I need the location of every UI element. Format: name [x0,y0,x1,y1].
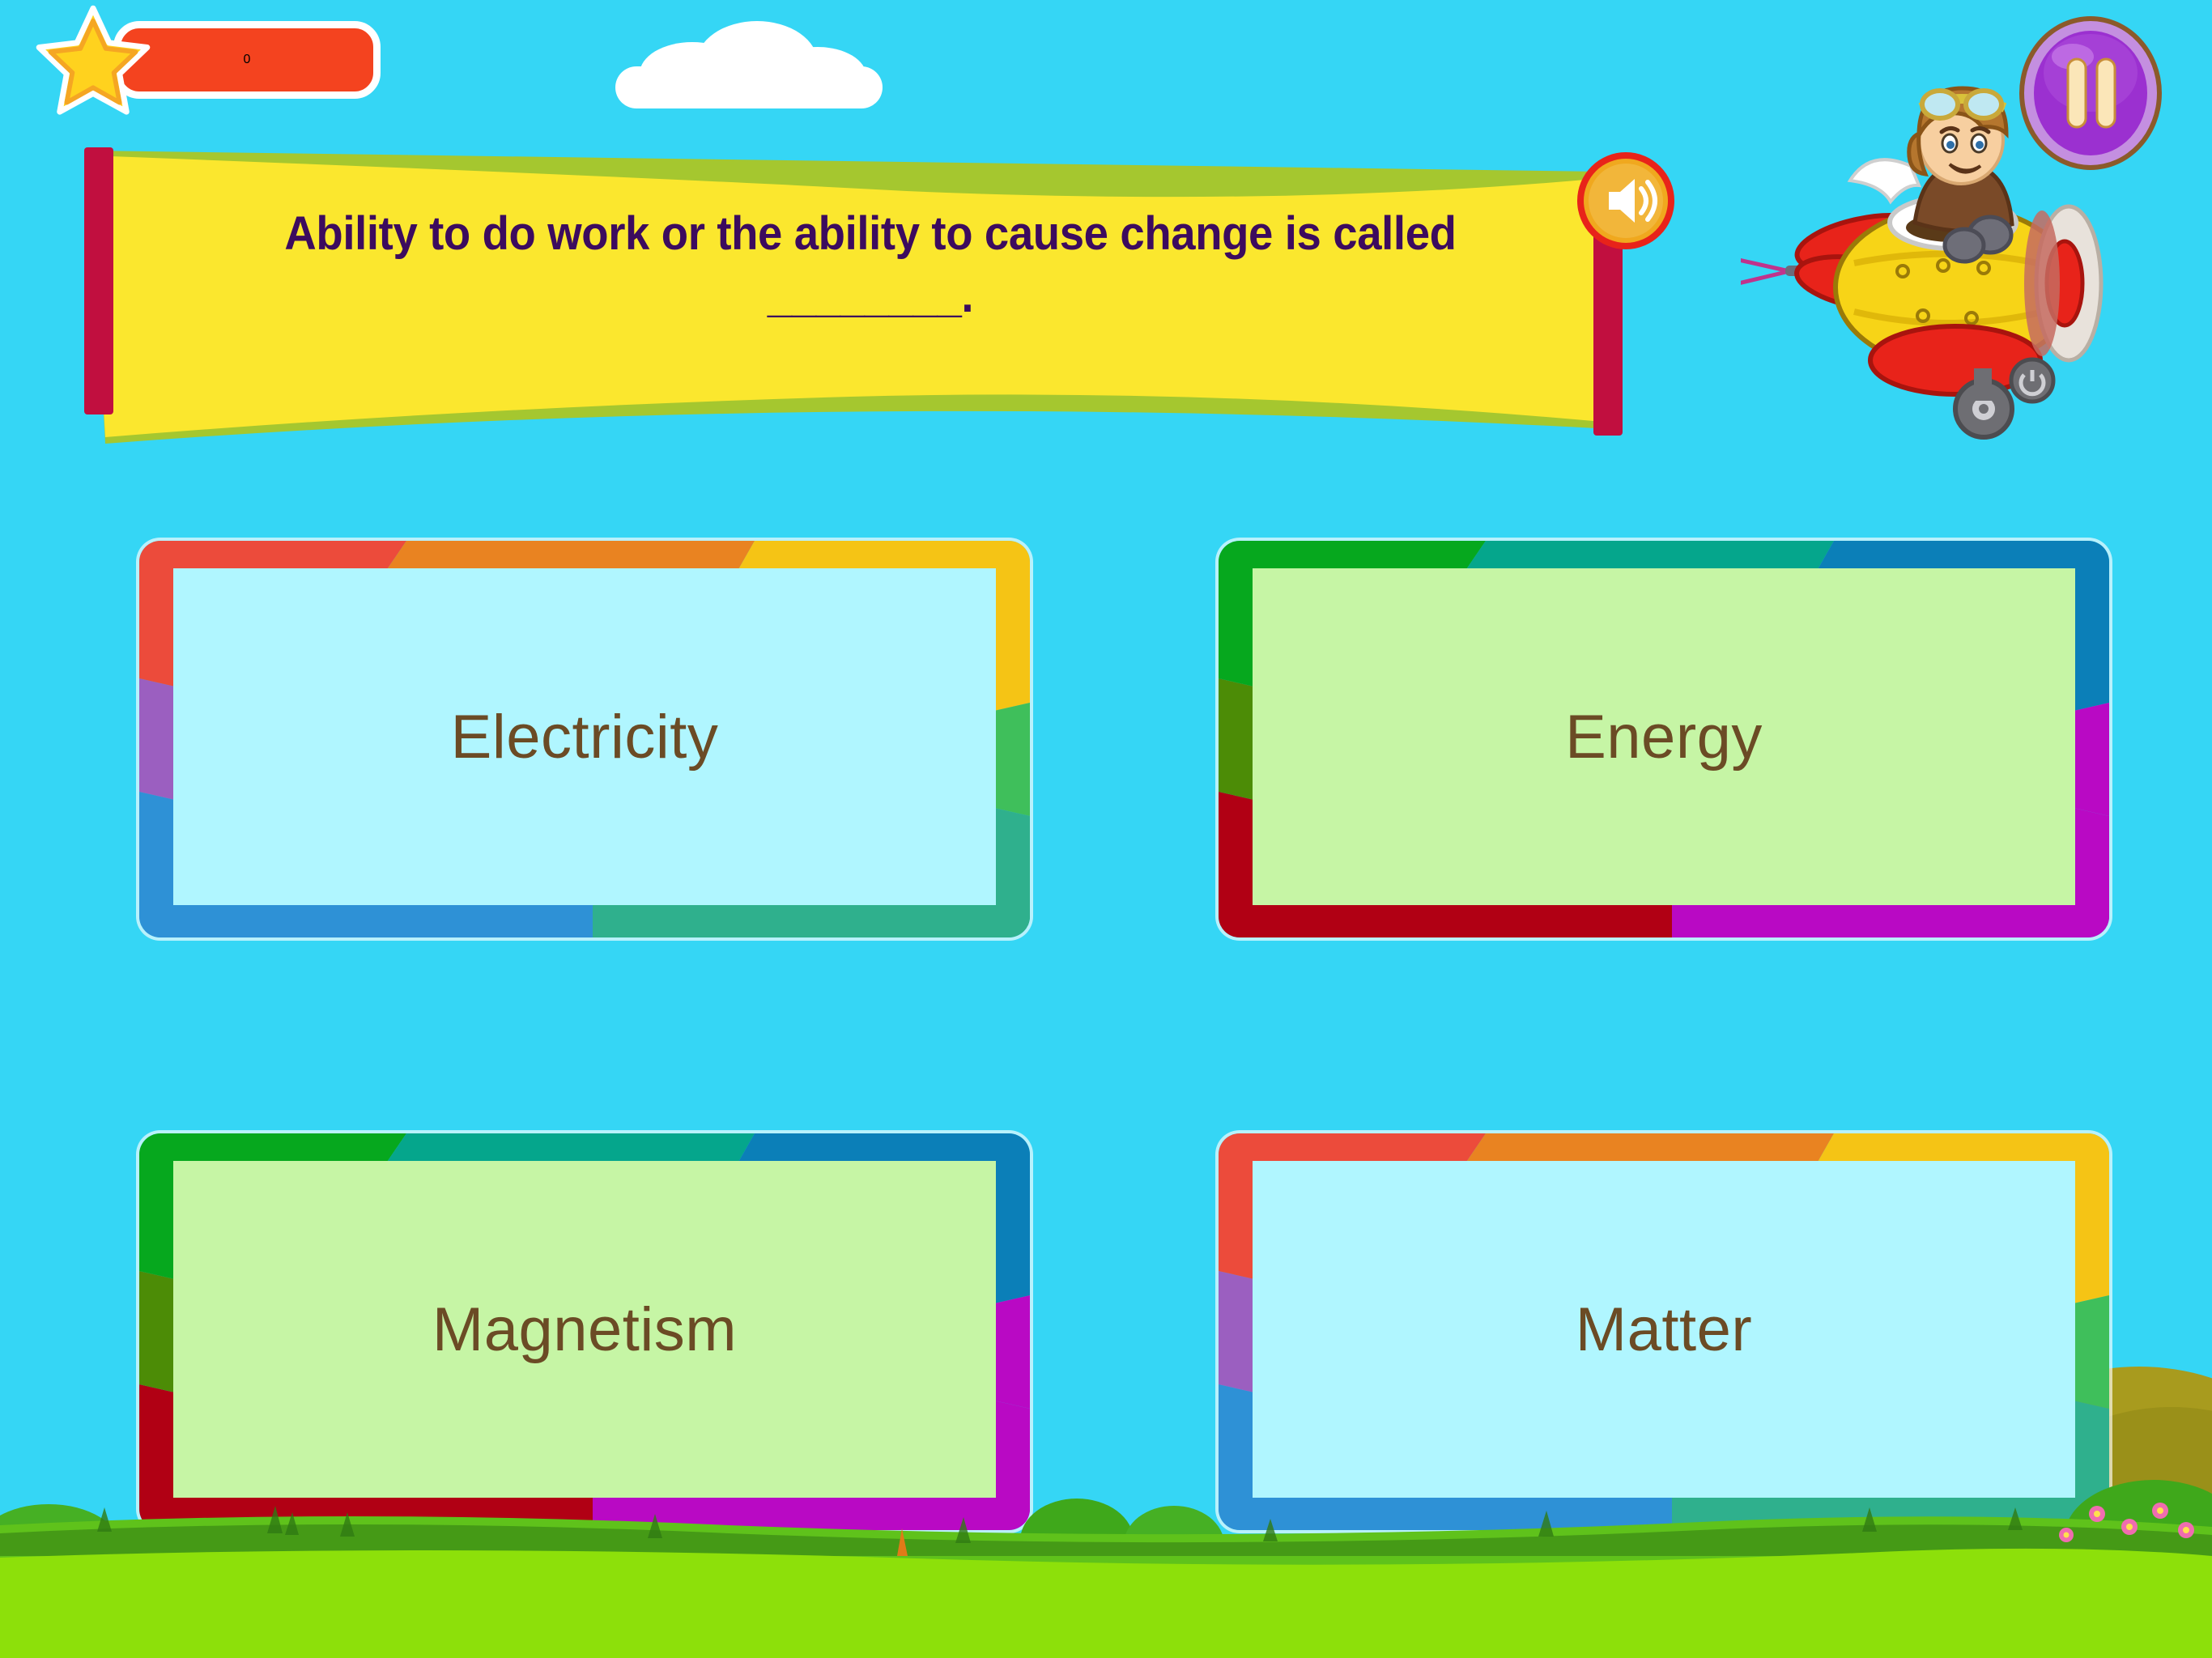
grass-foreground [0,1549,2212,1658]
answer-label: Electricity [451,702,719,772]
pilot-airplane-mascot [1741,69,2121,457]
answer-label: Matter [1576,1295,1752,1365]
sound-button[interactable] [1575,150,1677,252]
star-icon [32,5,154,120]
answer-inner-panel: Energy [1253,568,2075,905]
question-text: Ability to do work or the ability to cau… [235,202,1506,327]
score-badge: 0 [32,15,381,105]
question-banner: Ability to do work or the ability to cau… [73,144,1636,444]
score-value: 0 [244,53,251,67]
answer-button-electricity[interactable]: Electricity [139,541,1030,937]
answer-label: Energy [1565,702,1763,772]
answer-button-energy[interactable]: Energy [1219,541,2109,937]
cloud-icon [615,16,891,113]
answer-inner-panel: Electricity [173,568,996,905]
answer-label: Magnetism [432,1295,737,1365]
game-screen: 0 [0,0,2212,1658]
ground [0,1383,2212,1658]
